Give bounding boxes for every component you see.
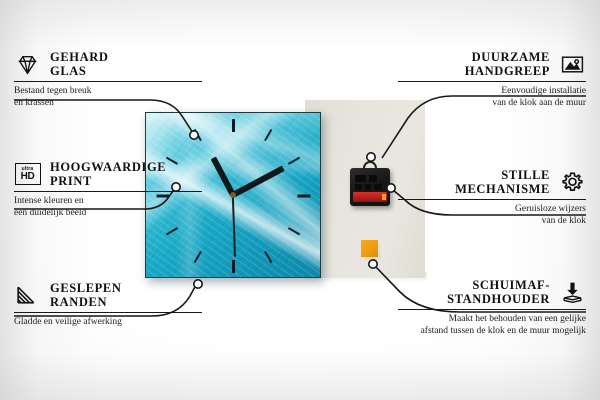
feature-stille-mechanisme: STILLE MECHANISME Geruisloze wijzers van… [398, 168, 586, 227]
diamond-icon [14, 51, 41, 78]
feature-duurzame-handgreep: DUURZAME HANDGREEP Eenvoudige installati… [398, 50, 586, 109]
feature-heading-stille-mechanisme: STILLE MECHANISME [398, 168, 586, 196]
feature-desc-line2: en krassen [14, 98, 202, 110]
gear-icon [559, 169, 586, 196]
feature-title-line2: HANDGREEP [465, 64, 550, 78]
feature-desc-line1: Maakt het behouden van een gelijke [398, 314, 586, 326]
ultra-hd-icon: ultra HD [14, 161, 41, 188]
feature-heading-geslepen-randen: GESLEPEN RANDEN [14, 281, 202, 309]
feature-heading-hoogwaardige-print: ultra HD HOOGWAARDIGE PRINT [14, 160, 202, 188]
connector-dot-gehard-glas [190, 131, 198, 139]
connector-dot-schuimafstandhouder [369, 260, 377, 268]
feature-desc-line1: Eenvoudige installatie [398, 86, 586, 98]
feature-title-line1: DUURZAME [465, 50, 550, 64]
feature-title-line1: GESLEPEN [50, 281, 122, 295]
feature-hoogwaardige-print: ultra HD HOOGWAARDIGE PRINT Intense kleu… [14, 160, 202, 219]
feature-divider [14, 81, 202, 82]
feature-title-line1: HOOGWAARDIGE [50, 160, 166, 174]
feature-desc-line2: een duidelijk beeld [14, 208, 202, 220]
feature-schuimafstandhouder: SCHUIMAF- STANDHOUDER Maakt het behouden… [398, 278, 586, 337]
feature-divider [398, 199, 586, 200]
feature-title-line2: PRINT [50, 174, 166, 188]
feature-title-line2: MECHANISME [455, 182, 550, 196]
feature-title-block: STILLE MECHANISME [455, 168, 550, 196]
feature-title-block: HOOGWAARDIGE PRINT [50, 160, 166, 188]
connector-dot-stille-mechanisme [387, 184, 395, 192]
feature-desc-line1: Intense kleuren en [14, 196, 202, 208]
feature-heading-schuimafstandhouder: SCHUIMAF- STANDHOUDER [398, 278, 586, 306]
feature-title-line2: GLAS [50, 64, 108, 78]
stacked-arrow-down-icon [559, 279, 586, 306]
feature-title-line2: STANDHOUDER [447, 292, 550, 306]
feature-title-block: GEHARD GLAS [50, 50, 108, 78]
connector-dot-duurzame-handgreep [367, 153, 375, 161]
feature-desc-line1: Bestand tegen breuk [14, 86, 202, 98]
feature-title-line1: STILLE [455, 168, 550, 182]
feature-heading-duurzame-handgreep: DUURZAME HANDGREEP [398, 50, 586, 78]
feature-desc-line1: Geruisloze wijzers [398, 204, 586, 216]
feature-divider [398, 81, 586, 82]
feature-title-block: GESLEPEN RANDEN [50, 281, 122, 309]
feature-desc-line2: van de klok [398, 216, 586, 228]
feature-desc-line2: afstand tussen de klok en de muur mogeli… [398, 326, 586, 338]
feature-geslepen-randen: GESLEPEN RANDEN Gladde en veilige afwerk… [14, 281, 202, 329]
feature-heading-gehard-glas: GEHARD GLAS [14, 50, 202, 78]
beveled-edge-icon [14, 282, 41, 309]
feature-title-line1: GEHARD [50, 50, 108, 64]
feature-divider [398, 309, 586, 310]
ultra-hd-badge: ultra HD [15, 163, 41, 185]
feature-gehard-glas: GEHARD GLAS Bestand tegen breuk en krass… [14, 50, 202, 109]
feature-divider [14, 312, 202, 313]
feature-title-block: SCHUIMAF- STANDHOUDER [447, 278, 550, 306]
product-infographic: GEHARD GLAS Bestand tegen breuk en krass… [0, 0, 600, 400]
feature-desc-line2: van de klok aan de muur [398, 98, 586, 110]
feature-title-line2: RANDEN [50, 295, 122, 309]
feature-title-line1: SCHUIMAF- [447, 278, 550, 292]
feature-desc-line1: Gladde en veilige afwerking [14, 317, 202, 329]
feature-title-block: DUURZAME HANDGREEP [465, 50, 550, 78]
framed-picture-icon [559, 51, 586, 78]
ultra-hd-big-text: HD [21, 172, 35, 182]
feature-divider [14, 191, 202, 192]
